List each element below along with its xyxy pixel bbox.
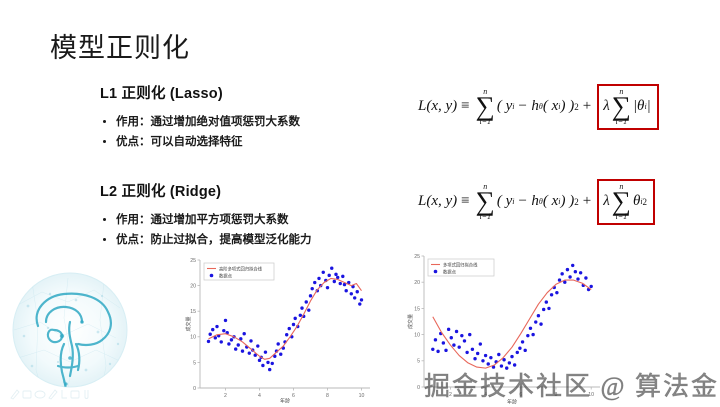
decorative-icon-strip	[8, 386, 94, 402]
data-point	[222, 329, 225, 332]
data-point	[458, 345, 461, 348]
l2-formula: L(x, y) ≡ n ∑ i=1 ( yi − hθ ( xi ) )2 + …	[418, 179, 655, 225]
residual-power: 2	[574, 197, 579, 207]
data-point	[508, 361, 511, 364]
x-tick-label: 4	[484, 392, 487, 398]
data-point	[539, 322, 542, 325]
brain-icon	[2, 266, 138, 402]
l1-formula: L(x, y) ≡ n ∑ i=1 ( yi − hθ ( xi ) )2 + …	[418, 84, 659, 130]
plus-sign: +	[583, 193, 591, 210]
penalty-close: |	[647, 98, 651, 115]
list-item: 作用：通过增加平方项惩罚大系数	[100, 210, 312, 230]
x-axis-label: 年龄	[507, 399, 517, 406]
x-tick-label: 10	[359, 393, 365, 399]
data-point	[479, 342, 482, 345]
data-point	[550, 293, 553, 296]
data-point	[360, 298, 363, 301]
data-point	[518, 347, 521, 350]
data-point	[531, 333, 534, 336]
data-point	[584, 276, 587, 279]
data-point	[307, 308, 310, 311]
data-point	[513, 363, 516, 366]
data-point	[271, 362, 274, 365]
data-point	[224, 319, 227, 322]
data-point	[277, 342, 280, 345]
y-tick-label: 20	[414, 280, 420, 286]
data-point	[547, 307, 550, 310]
data-point	[579, 271, 582, 274]
data-point	[207, 340, 210, 343]
sum-lower-limit: i=1	[479, 213, 491, 221]
data-point	[220, 340, 223, 343]
legend-label: 数据点	[219, 272, 233, 279]
penalty-sum-lower-limit: i=1	[616, 118, 628, 126]
data-point	[243, 332, 246, 335]
data-point	[558, 278, 561, 281]
data-point	[571, 264, 574, 267]
residual-open: ( y	[497, 193, 512, 210]
legend-label: 数据点	[443, 268, 457, 275]
data-point	[463, 339, 466, 342]
y-axis-label: 成交量	[407, 314, 414, 329]
section-l2-bullets: 作用：通过增加平方项惩罚大系数 优点：防止过拟合，提高模型泛化能力	[100, 210, 312, 250]
penalty-sum-lower-limit: i=1	[616, 213, 628, 221]
legend-dot-swatch	[210, 274, 214, 278]
bracket-icon	[62, 390, 67, 398]
data-point	[330, 266, 333, 269]
section-l1-heading: L1 正则化 (Lasso)	[100, 82, 300, 103]
legend-label: 多项式回归拟合线	[443, 261, 478, 268]
y-tick-label: 5	[417, 359, 420, 365]
data-point	[542, 308, 545, 311]
y-tick-label: 10	[414, 333, 420, 339]
x-tick-label: 2	[449, 392, 452, 398]
data-point	[505, 366, 508, 369]
data-point	[299, 314, 302, 317]
data-point	[545, 300, 548, 303]
data-point	[444, 349, 447, 352]
data-point	[256, 344, 259, 347]
frame-icon	[71, 391, 79, 398]
data-point	[568, 275, 571, 278]
chart-right-plot: 2468100510152025年龄成交量多项式回归拟合线数据点	[406, 251, 608, 405]
data-point	[322, 271, 325, 274]
data-point	[350, 292, 353, 295]
x-tick-label: 10	[588, 392, 594, 398]
data-point	[285, 333, 288, 336]
data-point	[339, 282, 342, 285]
minus-h: − h	[518, 98, 539, 115]
y-axis-label: 成交量	[185, 316, 192, 331]
data-point	[248, 351, 251, 354]
chart-left-plot: 2468100510152025年龄成交量高阶多项式回归拟合线数据点	[184, 256, 376, 404]
sum-lower-limit: i=1	[479, 118, 491, 126]
data-point	[356, 290, 359, 293]
data-point	[300, 306, 303, 309]
penalty-sigma-glyph: ∑	[612, 191, 631, 213]
pencil-icon	[11, 390, 19, 399]
data-point	[576, 277, 579, 280]
data-point	[526, 334, 529, 337]
data-point	[516, 351, 519, 354]
y-tick-label: 0	[193, 386, 196, 392]
data-point	[266, 361, 269, 364]
h-argument: ( x	[543, 193, 558, 210]
data-point	[345, 289, 348, 292]
data-point	[510, 355, 513, 358]
formula-equiv: ≡	[461, 193, 469, 210]
data-point	[476, 352, 479, 355]
brain-network-illustration	[2, 266, 138, 402]
penalty-summation-symbol: n ∑ i=1	[612, 183, 631, 221]
data-point	[241, 349, 244, 352]
data-point	[574, 270, 577, 273]
brush-icon	[49, 390, 57, 399]
residual-close: ) )	[560, 193, 574, 210]
data-point	[481, 359, 484, 362]
data-point	[227, 342, 230, 345]
data-point	[211, 328, 214, 331]
data-point	[268, 368, 271, 371]
data-point	[566, 268, 569, 271]
residual-close: ) )	[560, 98, 574, 115]
data-point	[590, 285, 593, 288]
data-point	[258, 359, 261, 362]
penalty-summation-symbol: n ∑ i=1	[612, 88, 631, 126]
data-point	[230, 338, 233, 341]
data-point	[442, 341, 445, 344]
sigma-glyph: ∑	[476, 96, 495, 118]
penalty-term-box: λ n ∑ i=1 θi2	[597, 179, 655, 225]
ellipse-icon	[35, 391, 45, 398]
data-point	[215, 325, 218, 328]
residual-subscript: i	[512, 102, 514, 111]
data-point	[311, 287, 314, 290]
minus-h: − h	[518, 193, 539, 210]
y-tick-label: 5	[193, 360, 196, 366]
data-point	[524, 349, 527, 352]
data-point	[497, 353, 500, 356]
y-tick-label: 15	[414, 306, 420, 312]
data-point	[353, 296, 356, 299]
list-item: 作用：通过增加绝对值项惩罚大系数	[100, 112, 300, 132]
formula-lhs: L(x, y)	[418, 193, 457, 210]
x-tick-label: 6	[292, 393, 295, 399]
summation-symbol: n ∑ i=1	[476, 183, 495, 221]
legend-dot-swatch	[434, 270, 438, 274]
x-tick-label: 4	[258, 393, 261, 399]
formula-lhs: L(x, y)	[418, 98, 457, 115]
data-point	[333, 280, 336, 283]
data-point	[279, 353, 282, 356]
data-point	[294, 317, 297, 320]
data-point	[447, 328, 450, 331]
list-item: 优点：可以自动选择特征	[100, 132, 300, 152]
data-point	[209, 333, 212, 336]
data-point	[436, 350, 439, 353]
chart-left: 2468100510152025年龄成交量高阶多项式回归拟合线数据点	[184, 256, 376, 404]
data-point	[313, 281, 316, 284]
y-tick-label: 0	[417, 385, 420, 391]
scatter-series	[207, 266, 363, 371]
tool-icons	[8, 386, 94, 402]
y-tick-label: 15	[190, 309, 196, 315]
lambda-symbol: λ	[603, 98, 610, 115]
residual-power: 2	[574, 102, 579, 112]
penalty-term: |θ	[633, 98, 645, 115]
image-icon	[23, 391, 31, 398]
data-point	[292, 323, 295, 326]
data-point	[317, 277, 320, 280]
y-tick-label: 20	[190, 284, 196, 290]
data-point	[473, 357, 476, 360]
residual-subscript: i	[512, 197, 514, 206]
data-point	[468, 333, 471, 336]
data-point	[261, 364, 264, 367]
data-point	[326, 286, 329, 289]
section-l2-heading: L2 正则化 (Ridge)	[100, 180, 312, 201]
data-point	[471, 348, 474, 351]
section-l2: L2 正则化 (Ridge) 作用：通过增加平方项惩罚大系数 优点：防止过拟合，…	[100, 180, 312, 250]
data-point	[305, 300, 308, 303]
data-point	[334, 273, 337, 276]
data-point	[264, 350, 267, 353]
section-l1-bullets: 作用：通过增加绝对值项惩罚大系数 优点：可以自动选择特征	[100, 112, 300, 152]
data-point	[534, 320, 537, 323]
data-point	[560, 272, 563, 275]
data-point	[328, 274, 331, 277]
data-point	[484, 354, 487, 357]
penalty-term: θ	[633, 193, 640, 210]
magnet-icon	[85, 390, 88, 399]
list-item: 优点：防止过拟合，提高模型泛化能力	[100, 230, 312, 250]
lambda-symbol: λ	[603, 193, 610, 210]
data-point	[434, 338, 437, 341]
data-point	[288, 327, 291, 330]
data-point	[460, 334, 463, 337]
summation-symbol: n ∑ i=1	[476, 88, 495, 126]
data-point	[555, 291, 558, 294]
data-point	[487, 362, 490, 365]
formula-equiv: ≡	[461, 98, 469, 115]
y-tick-label: 25	[190, 258, 196, 264]
legend-label: 高阶多项式回归拟合线	[219, 265, 263, 272]
plus-sign: +	[583, 98, 591, 115]
section-l1: L1 正则化 (Lasso) 作用：通过增加绝对值项惩罚大系数 优点：可以自动选…	[100, 82, 300, 152]
data-point	[358, 302, 361, 305]
data-point	[455, 330, 458, 333]
slide-canvas: 模型正则化 L1 正则化 (Lasso) 作用：通过增加绝对值项惩罚大系数 优点…	[0, 0, 720, 405]
penalty-power: 2	[643, 197, 648, 207]
x-tick-label: 2	[224, 393, 227, 399]
x-tick-label: 8	[326, 393, 329, 399]
data-point	[500, 364, 503, 367]
data-point	[249, 339, 252, 342]
x-tick-label: 6	[519, 392, 522, 398]
x-tick-label: 8	[555, 392, 558, 398]
data-point	[450, 336, 453, 339]
data-point	[465, 351, 468, 354]
penalty-sigma-glyph: ∑	[612, 96, 631, 118]
data-point	[336, 276, 339, 279]
data-point	[237, 343, 240, 346]
data-point	[529, 327, 532, 330]
data-point	[234, 347, 237, 350]
residual-open: ( y	[497, 98, 512, 115]
data-point	[452, 343, 455, 346]
data-point	[341, 275, 344, 278]
x-axis-label: 年龄	[280, 398, 290, 405]
fit-line	[209, 278, 362, 359]
data-point	[489, 356, 492, 359]
chart-right: 2468100510152025年龄成交量多项式回归拟合线数据点	[406, 251, 608, 405]
data-point	[537, 314, 540, 317]
sigma-glyph: ∑	[476, 191, 495, 213]
penalty-term-box: λ n ∑ i=1 |θi|	[597, 84, 659, 130]
data-point	[309, 294, 312, 297]
data-point	[521, 340, 524, 343]
h-argument: ( x	[543, 98, 558, 115]
y-tick-label: 10	[190, 335, 196, 341]
data-point	[431, 348, 434, 351]
page-title: 模型正则化	[50, 34, 190, 64]
y-tick-label: 25	[414, 254, 420, 260]
